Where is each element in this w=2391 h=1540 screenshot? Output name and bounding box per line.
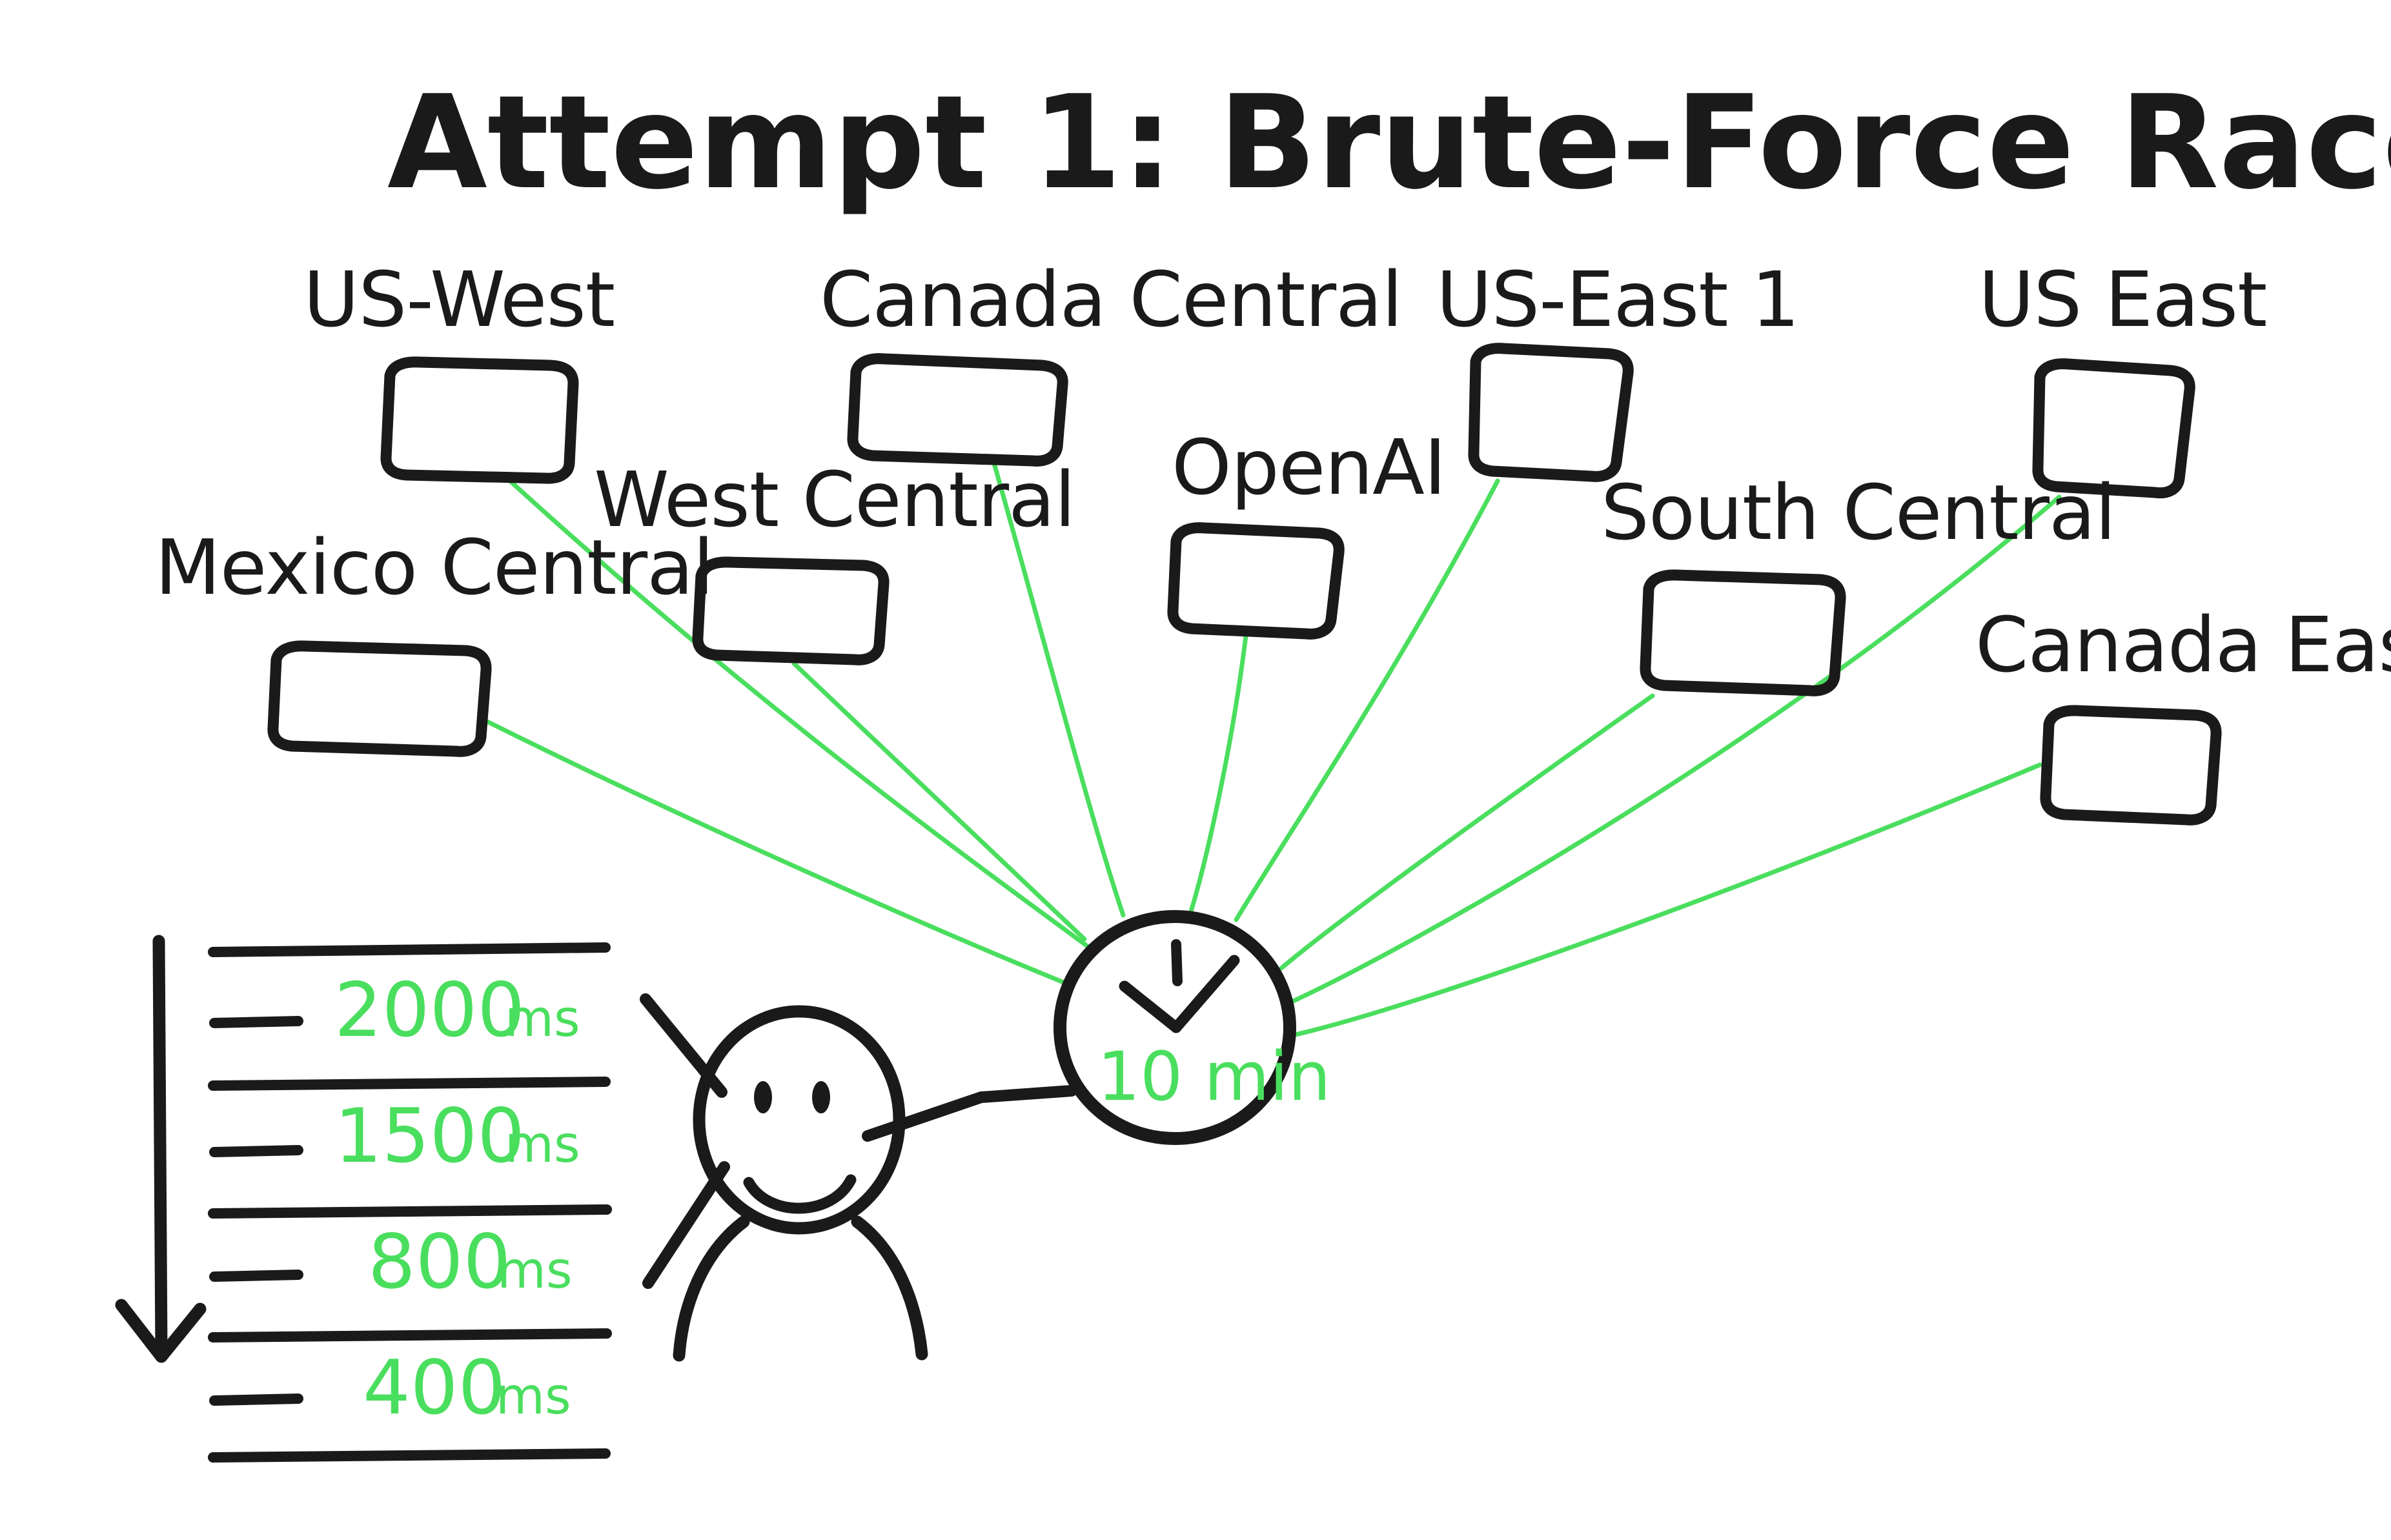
figure-arm-right bbox=[857, 1222, 922, 1354]
figure-head bbox=[699, 1011, 899, 1228]
clock-hand-hour bbox=[1124, 986, 1176, 1028]
figure-eye-right bbox=[812, 1081, 830, 1113]
stick-figure bbox=[679, 1011, 922, 1355]
figure-eye-left bbox=[754, 1081, 772, 1113]
figure-and-clock-layer: 10 min bbox=[0, 0, 2391, 1540]
diagram-canvas: Attempt 1: Brute-Force Race US-West Cana… bbox=[0, 0, 2391, 1540]
figure-arm-left bbox=[679, 1222, 744, 1355]
clock-tick-12 bbox=[1176, 944, 1177, 981]
clock-hand-minute bbox=[1176, 960, 1234, 1028]
clock-duration-label: 10 min bbox=[1097, 1037, 1331, 1116]
clock-hub[interactable]: 10 min bbox=[1060, 917, 1331, 1139]
figure-smile bbox=[749, 1180, 851, 1208]
